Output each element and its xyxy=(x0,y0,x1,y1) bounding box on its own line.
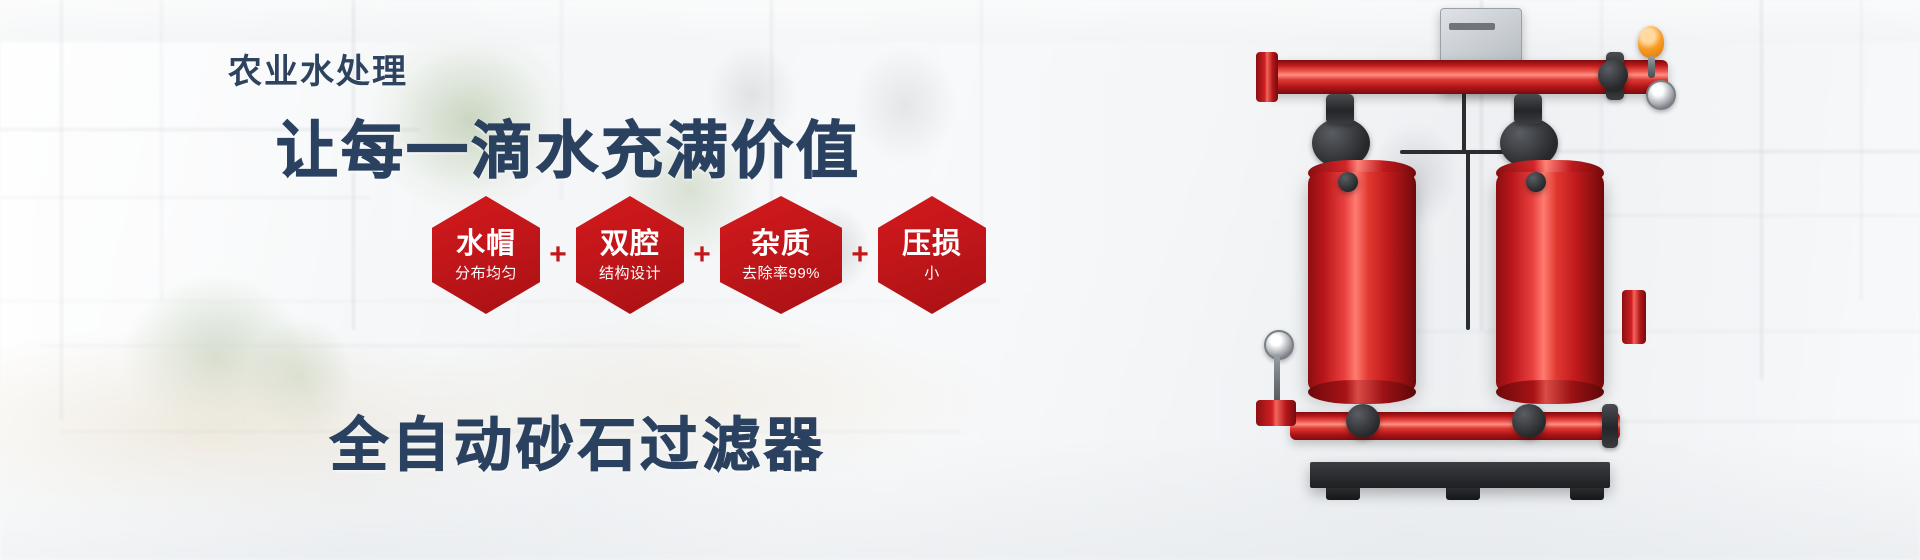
feature-badge-water-cap: 水帽 分布均匀 xyxy=(432,196,540,314)
right-tank-neck-flange xyxy=(1514,94,1542,124)
feature-subtitle: 小 xyxy=(924,266,940,281)
right-filter-tank xyxy=(1496,172,1604,392)
bottom-manifold-flange xyxy=(1602,404,1618,448)
feature-title: 水帽 xyxy=(456,230,516,259)
plus-separator-icon: + xyxy=(842,196,878,314)
left-tank-bottom-cap xyxy=(1308,380,1416,404)
product-image-sand-gravel-filter: SANYUAN xyxy=(1250,0,1910,560)
right-tank-bottom-cap xyxy=(1496,380,1604,404)
right-tank-port xyxy=(1526,172,1546,192)
feature-subtitle: 结构设计 xyxy=(599,266,661,281)
equipment-skid-base xyxy=(1310,462,1610,488)
skid-foot xyxy=(1570,488,1604,500)
valve-stem-pipe xyxy=(1648,56,1655,78)
feature-subtitle: 去除率99% xyxy=(742,266,820,281)
bottom-manifold-pipe xyxy=(1290,412,1620,440)
banner-eyebrow: 农业水处理 xyxy=(228,44,408,93)
controller-display xyxy=(1449,23,1495,30)
bottom-inlet-bell xyxy=(1256,400,1296,426)
promo-banner: 农业水处理 让每一滴水充满价值 水帽 分布均匀 + 双腔 结构设计 + 杂质 去… xyxy=(0,0,1920,560)
feature-badge-impurity: 杂质 去除率99% xyxy=(720,196,842,314)
top-valve-right xyxy=(1598,60,1628,90)
controller-cable-down xyxy=(1466,150,1470,330)
banner-subtitle: 全自动砂石过滤器 xyxy=(330,398,826,482)
left-filter-tank xyxy=(1308,172,1416,392)
plus-separator-icon: + xyxy=(540,196,576,314)
left-tank-neck-flange xyxy=(1326,94,1354,124)
banner-copy: 农业水处理 让每一滴水充满价值 水帽 分布均匀 + 双腔 结构设计 + 杂质 去… xyxy=(0,0,1000,560)
feature-title: 杂质 xyxy=(751,230,811,259)
banner-headline: 让每一滴水充满价值 xyxy=(276,100,861,190)
controller-cable xyxy=(1462,92,1466,152)
plus-separator-icon: + xyxy=(684,196,720,314)
feature-subtitle: 分布均匀 xyxy=(455,266,517,281)
pressure-gauge-top xyxy=(1646,80,1676,110)
air-release-valve xyxy=(1638,26,1664,58)
feature-badge-list: 水帽 分布均匀 + 双腔 结构设计 + 杂质 去除率99% + 压损 小 xyxy=(432,196,986,314)
skid-foot xyxy=(1326,488,1360,500)
left-tank-port xyxy=(1338,172,1358,192)
skid-foot xyxy=(1446,488,1480,500)
side-outlet-nozzle xyxy=(1622,290,1646,344)
bottom-valve-left xyxy=(1346,404,1380,438)
manifold-inlet-bell xyxy=(1256,52,1278,102)
feature-badge-dual-chamber: 双腔 结构设计 xyxy=(576,196,684,314)
feature-title: 压损 xyxy=(902,230,962,259)
feature-badge-pressure-loss: 压损 小 xyxy=(878,196,986,314)
feature-title: 双腔 xyxy=(600,230,660,259)
bottom-valve-right xyxy=(1512,404,1546,438)
